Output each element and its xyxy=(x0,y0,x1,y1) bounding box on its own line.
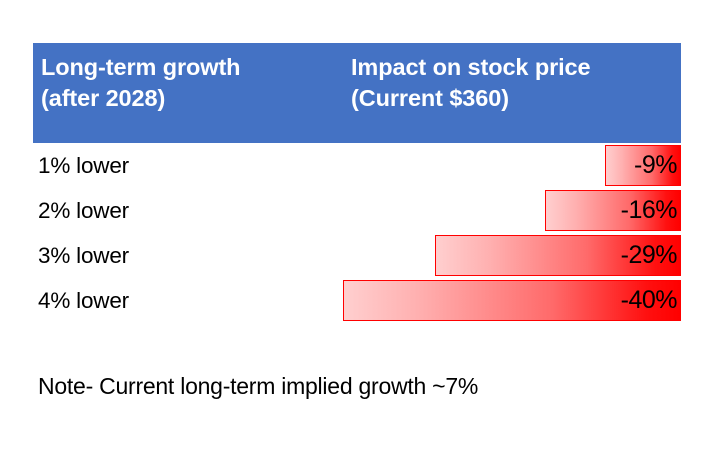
table-row: 4% lower-40% xyxy=(33,278,681,323)
row-bar-cell: -40% xyxy=(343,278,681,323)
value-bar: -16% xyxy=(545,190,681,231)
note-text: Note- Current long-term implied growth ~… xyxy=(38,373,478,400)
row-bar-cell: -9% xyxy=(343,143,681,188)
table-body: 1% lower-9%2% lower-16%3% lower-29%4% lo… xyxy=(33,143,681,323)
row-bar-cell: -16% xyxy=(343,188,681,233)
bar-value-label: -40% xyxy=(621,288,680,313)
table-row: 1% lower-9% xyxy=(33,143,681,188)
value-bar: -40% xyxy=(343,280,681,321)
row-label: 2% lower xyxy=(33,188,343,233)
impact-table: Long-term growth (after 2028) Impact on … xyxy=(33,43,681,323)
bar-value-label: -16% xyxy=(621,198,680,223)
value-bar: -9% xyxy=(605,145,681,186)
slide-canvas: Long-term growth (after 2028) Impact on … xyxy=(0,0,721,453)
table-header-row: Long-term growth (after 2028) Impact on … xyxy=(33,43,681,143)
table-row: 2% lower-16% xyxy=(33,188,681,233)
header-impact-on-stock-price: Impact on stock price (Current $360) xyxy=(343,43,681,143)
header-long-term-growth: Long-term growth (after 2028) xyxy=(33,43,343,143)
row-label: 4% lower xyxy=(33,278,343,323)
bar-value-label: -29% xyxy=(621,243,680,268)
row-label: 3% lower xyxy=(33,233,343,278)
row-bar-cell: -29% xyxy=(343,233,681,278)
row-label: 1% lower xyxy=(33,143,343,188)
bar-value-label: -9% xyxy=(634,153,680,178)
table-row: 3% lower-29% xyxy=(33,233,681,278)
value-bar: -29% xyxy=(435,235,681,276)
